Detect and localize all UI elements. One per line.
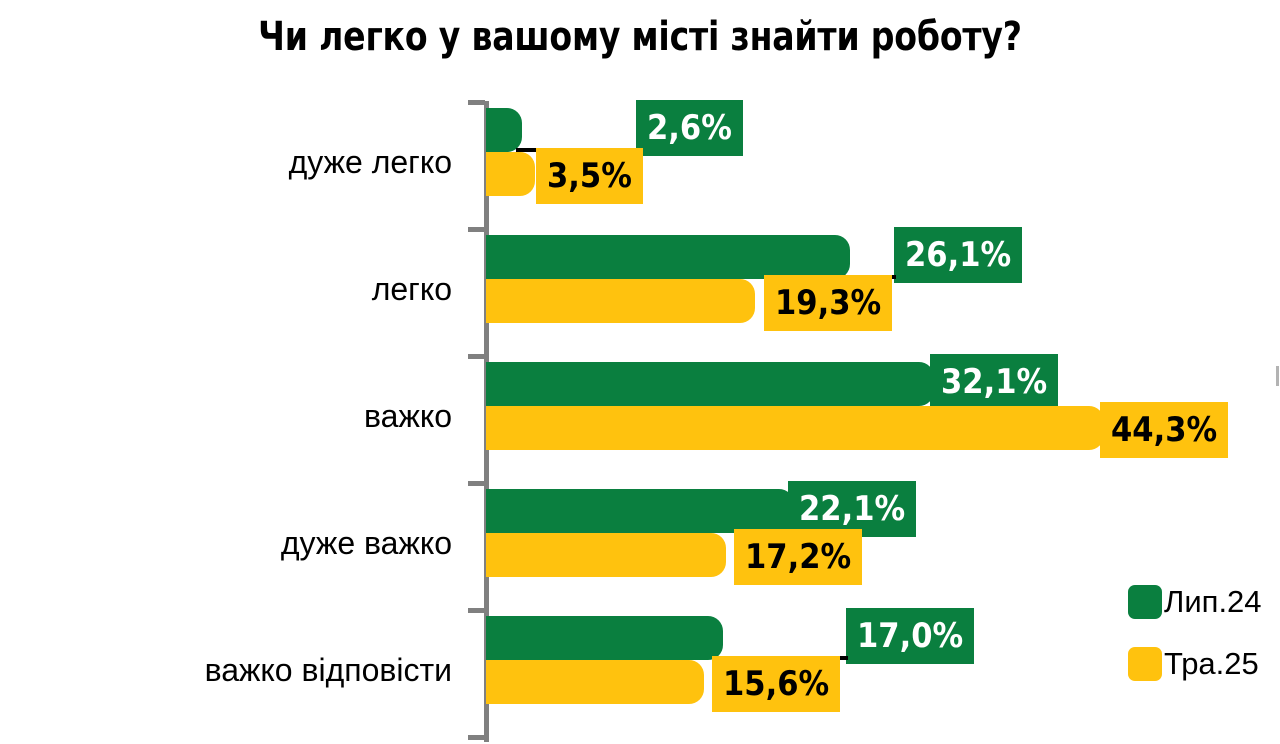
- bar-lyp24[interactable]: [486, 235, 850, 279]
- bar-tra25[interactable]: [486, 279, 755, 323]
- value-label: 3,5%: [536, 148, 643, 204]
- edge-artifact: [1276, 366, 1279, 386]
- value-label: 32,1%: [930, 354, 1058, 410]
- chart-container: Чи легко у вашому місті знайти роботу? д…: [0, 0, 1280, 744]
- axis-tick: [468, 100, 485, 105]
- bar-lyp24[interactable]: [486, 616, 723, 660]
- value-label: 44,3%: [1100, 402, 1228, 458]
- category-label: важко відповісти: [205, 654, 452, 686]
- bar-lyp24[interactable]: [486, 362, 934, 406]
- bar-tra25[interactable]: [486, 660, 704, 704]
- chart-legend: Лип.24 Тра.25: [1128, 580, 1262, 704]
- category-label: важко: [364, 400, 452, 432]
- bar-lyp24[interactable]: [486, 489, 794, 533]
- value-label: 26,1%: [894, 227, 1022, 283]
- axis-tick: [468, 227, 485, 232]
- axis-tick: [468, 735, 485, 740]
- category-label: дуже легко: [289, 146, 452, 178]
- value-label: 19,3%: [764, 275, 892, 331]
- plot-area: дуже легко2,6%3,5%легко26,1%19,3%важко32…: [0, 0, 1280, 744]
- bar-tra25[interactable]: [486, 533, 726, 577]
- value-label: 17,0%: [846, 608, 974, 664]
- bar-lyp24[interactable]: [486, 108, 522, 152]
- value-label: 2,6%: [636, 100, 743, 156]
- bar-tra25[interactable]: [486, 406, 1104, 450]
- legend-label-tra25: Тра.25: [1164, 646, 1259, 682]
- legend-item-lyp24[interactable]: Лип.24: [1128, 580, 1262, 624]
- legend-item-tra25[interactable]: Тра.25: [1128, 642, 1262, 686]
- value-label: 17,2%: [734, 529, 862, 585]
- category-label: легко: [372, 273, 452, 305]
- axis-tick: [468, 481, 485, 486]
- legend-label-lyp24: Лип.24: [1164, 584, 1262, 620]
- legend-swatch-icon-tra25: [1128, 647, 1162, 681]
- bar-tra25[interactable]: [486, 152, 535, 196]
- legend-swatch-icon-lyp24: [1128, 585, 1162, 619]
- axis-tick: [468, 608, 485, 613]
- value-label: 15,6%: [712, 656, 840, 712]
- category-label: дуже важко: [281, 527, 452, 559]
- axis-tick: [468, 354, 485, 359]
